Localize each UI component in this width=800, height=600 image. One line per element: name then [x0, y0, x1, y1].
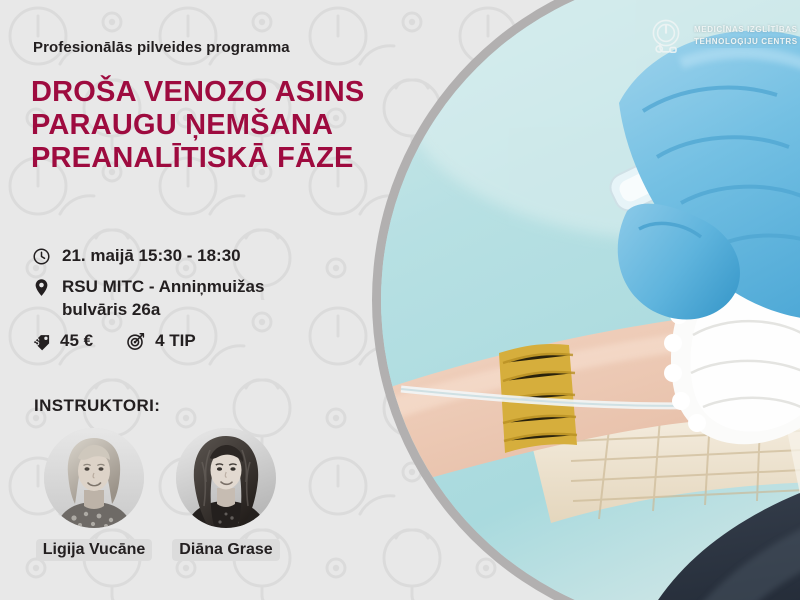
target-icon — [126, 330, 146, 352]
map-pin-icon — [31, 276, 51, 298]
detail-location: RSU MITC - Anniņmuižas bulvāris 26a — [62, 275, 264, 321]
instructors-label: INSTRUKTORI: — [34, 396, 160, 416]
logo-text-block: MEDICĪNAS IZGLĪTĪBAS TEHNOLOĢIJU CENTRS — [694, 24, 798, 48]
detail-row-pricing: 45 € 4 TIP — [31, 329, 431, 352]
venipuncture-blood-draw-photo — [381, 0, 800, 600]
detail-datetime: 21. maijā 15:30 - 18:30 — [62, 244, 241, 267]
price-group: 45 € — [31, 329, 93, 352]
poster-root: MEDICĪNAS IZGLĪTĪBAS TEHNOLOĢIJU CENTRS … — [0, 0, 800, 600]
program-eyebrow: Profesionālās pilveides programma — [33, 39, 290, 56]
instructors-list: Ligija Vucāne — [36, 428, 284, 561]
avatar — [44, 428, 144, 528]
price-tag-icon — [31, 330, 51, 352]
avatar — [176, 428, 276, 528]
detail-row-datetime: 21. maijā 15:30 - 18:30 — [31, 244, 431, 267]
content-column: Profesionālās pilveides programma DROŠA … — [0, 0, 440, 600]
detail-row-location: RSU MITC - Anniņmuižas bulvāris 26a — [31, 275, 431, 321]
logo-line-2: TEHNOLOĢIJU CENTRS — [694, 36, 798, 48]
brand-logo: MEDICĪNAS IZGLĪTĪBAS TEHNOLOĢIJU CENTRS — [646, 16, 798, 56]
detail-price: 45 € — [60, 329, 93, 352]
logo-line-1: MEDICĪNAS IZGLĪTĪBAS — [694, 24, 798, 36]
instructor-name: Ligija Vucāne — [36, 539, 153, 561]
clock-icon — [31, 245, 51, 267]
instructor-card: Diāna Grase — [168, 428, 284, 561]
event-details: 21. maijā 15:30 - 18:30 RSU MITC - Anniņ… — [31, 244, 431, 360]
power-button-stethoscope-icon — [646, 16, 686, 56]
instructor-card: Ligija Vucāne — [36, 428, 152, 561]
instructor-name: Diāna Grase — [172, 539, 279, 561]
credits-group: 4 TIP — [126, 329, 196, 352]
page-title: DROŠA VENOZO ASINS PARAUGU ŅEMŠANA PREAN… — [31, 76, 431, 175]
detail-credits: 4 TIP — [155, 329, 196, 352]
